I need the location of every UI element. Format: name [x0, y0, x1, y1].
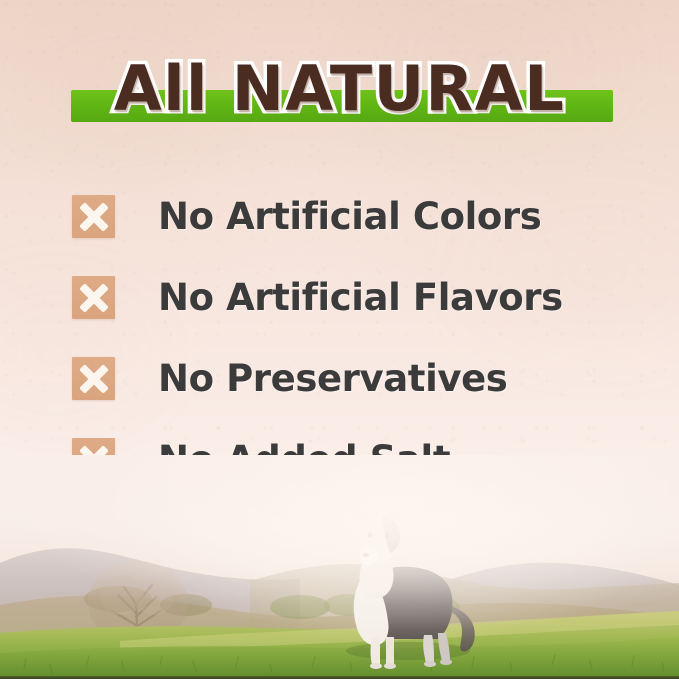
x-mark-icon: [72, 195, 115, 238]
claim-label: No Artificial Colors: [158, 198, 541, 235]
claims-list: No Artificial Colors No Artificial Flavo…: [0, 176, 679, 500]
claim-label: No Preservatives: [158, 360, 507, 397]
list-item: No Artificial Flavors: [0, 257, 679, 338]
lifestyle-photo: [0, 455, 679, 679]
headline-banner: All NATURAL: [0, 46, 679, 132]
x-mark-icon: [72, 357, 115, 400]
list-item: No Preservatives: [0, 338, 679, 419]
all-natural-product-claims-poster: All NATURAL No Artificial Colors No Arti…: [0, 0, 679, 679]
page-title: All NATURAL: [0, 46, 679, 132]
photo-illustration: [0, 455, 679, 679]
list-item: No Artificial Colors: [0, 176, 679, 257]
x-mark-icon: [72, 276, 115, 319]
claim-label: No Artificial Flavors: [158, 279, 563, 316]
